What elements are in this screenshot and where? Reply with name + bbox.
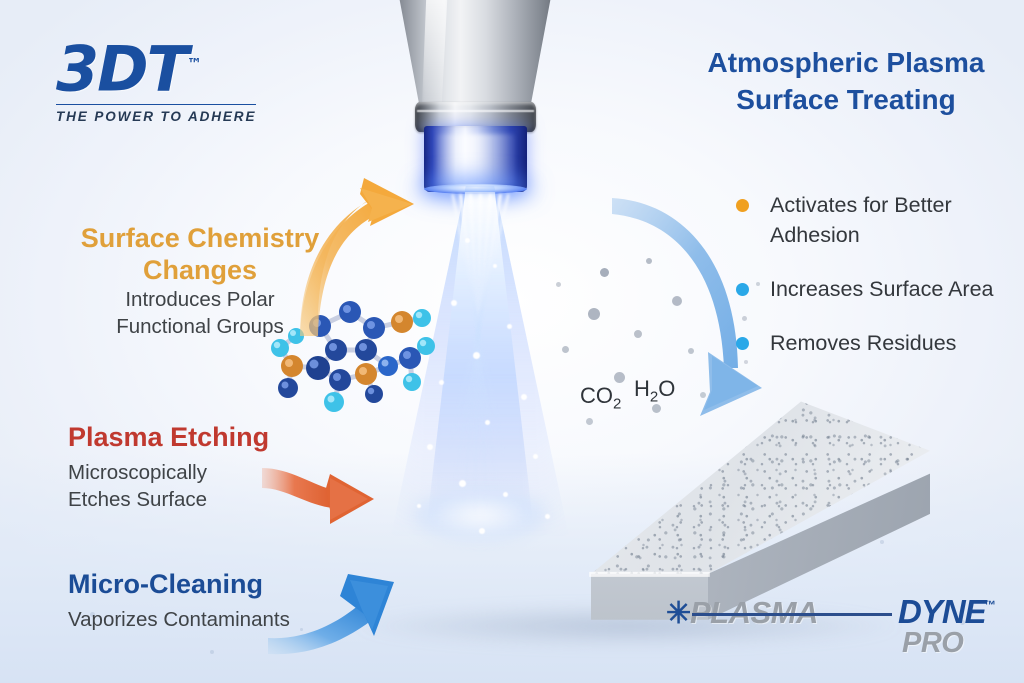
list-item: Increases Surface Area <box>736 274 1016 304</box>
gas-label-co2-text: CO <box>580 383 613 408</box>
callout-surface-chemistry: Surface Chemistry Changes Introduces Pol… <box>66 222 334 340</box>
callout-subtext: Microscopically Etches Surface <box>68 459 318 513</box>
page-title-line1: Atmospheric Plasma <box>686 44 1006 81</box>
callout-heading-line2: Changes <box>66 254 334 286</box>
page-title-line2: Surface Treating <box>686 81 1006 118</box>
callout-subtext-line1: Vaporizes Contaminants <box>68 606 358 633</box>
infographic-canvas: 3DT™ THE POWER TO ADHERE Atmospheric Pla… <box>0 0 1024 683</box>
brand-logo-wordmark: 3DT™ <box>56 33 268 101</box>
gas-label-co2: CO2 <box>580 383 621 412</box>
gas-label-h2o-o: O <box>658 376 675 401</box>
callout-subtext-line2: Etches Surface <box>68 486 318 513</box>
callout-subtext: Vaporizes Contaminants <box>68 606 358 633</box>
list-item-label: Removes Residues <box>770 331 956 355</box>
contaminant-particle <box>562 346 569 353</box>
product-logo-trademark: ™ <box>984 598 996 612</box>
product-logo-row: ✳ PLASMA DYNE ™ PRO <box>666 596 1006 630</box>
page-title: Atmospheric Plasma Surface Treating <box>686 44 1006 118</box>
list-item-label: Activates for Better Adhesion <box>770 193 952 247</box>
brand-logo-3dt: 3DT™ THE POWER TO ADHERE <box>56 33 268 124</box>
callout-subtext-line2: Functional Groups <box>66 313 334 340</box>
gas-label-co2-subscript: 2 <box>613 395 621 412</box>
product-logo-pro-text: PRO <box>902 627 963 659</box>
benefits-list: Activates for Better Adhesion Increases … <box>736 190 1016 382</box>
nozzle-tip-highlight <box>436 134 515 186</box>
plasma-spark <box>493 264 497 268</box>
callout-micro-cleaning: Micro-Cleaning Vaporizes Contaminants <box>68 568 358 633</box>
plasma-spark <box>451 300 457 306</box>
callout-heading: Surface Chemistry Changes <box>66 222 334 286</box>
brand-tagline: THE POWER TO ADHERE <box>56 109 268 124</box>
callout-subtext: Introduces Polar Functional Groups <box>66 286 334 340</box>
contaminant-particle <box>588 308 600 320</box>
bullet-marker-icon <box>736 283 749 296</box>
gas-label-h2o: H2O <box>634 376 675 405</box>
brand-logo-text: 3DT <box>56 33 187 106</box>
plasma-spark <box>473 352 480 359</box>
callout-heading-line1: Surface Chemistry <box>66 222 334 254</box>
gas-label-h2o-h: H <box>634 376 650 401</box>
nozzle-cone <box>386 0 564 108</box>
bullet-marker-icon <box>736 337 749 350</box>
contaminant-particle <box>556 282 561 287</box>
callout-heading: Plasma Etching <box>68 421 318 453</box>
callout-heading-line1: Plasma Etching <box>68 421 318 453</box>
callout-subtext-line1: Introduces Polar <box>66 286 334 313</box>
list-item: Removes Residues <box>736 328 1016 358</box>
callout-plasma-etching: Plasma Etching Microscopically Etches Su… <box>68 421 318 513</box>
list-item: Activates for Better Adhesion <box>736 190 1016 250</box>
nozzle-collar-highlight <box>417 110 534 112</box>
gas-label-h2o-subscript: 2 <box>650 388 658 405</box>
plasma-spark <box>465 238 470 243</box>
contaminant-particle <box>600 268 609 277</box>
product-logo-strikethrough <box>692 613 892 616</box>
asterisk-icon: ✳ <box>666 599 691 629</box>
list-item-label: Increases Surface Area <box>770 277 993 301</box>
callout-subtext-line1: Microscopically <box>68 459 318 486</box>
bullet-marker-icon <box>736 199 749 212</box>
callout-heading: Micro-Cleaning <box>68 568 358 600</box>
trademark-symbol: ™ <box>187 55 202 73</box>
product-logo-plasmadyne-pro: ✳ PLASMA DYNE ™ PRO <box>666 596 1006 666</box>
plasma-spark <box>507 324 512 329</box>
product-logo-dyne-text: DYNE <box>898 595 986 629</box>
floor-speck <box>210 650 214 654</box>
callout-heading-line1: Micro-Cleaning <box>68 568 358 600</box>
